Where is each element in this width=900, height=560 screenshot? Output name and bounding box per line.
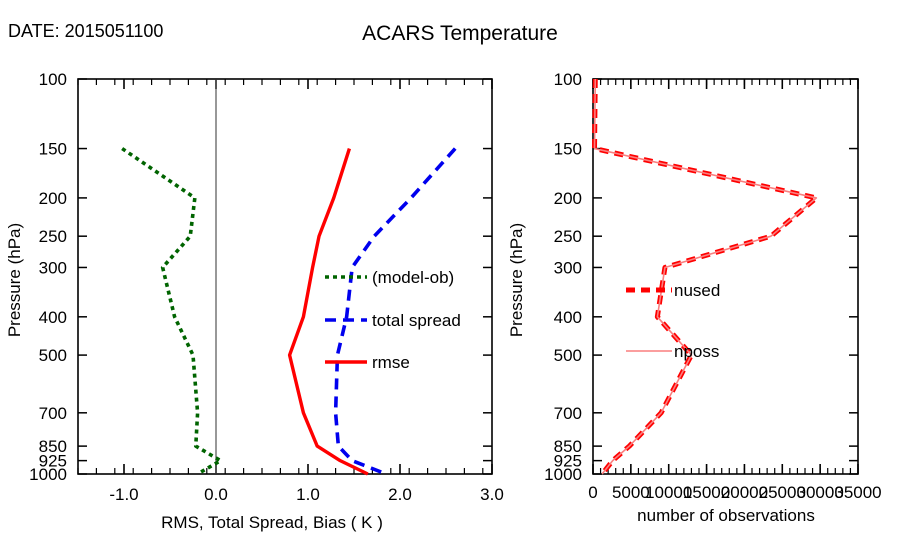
y-tick-label: 500 [39, 346, 67, 365]
y-tick-label: 100 [554, 70, 582, 89]
x-tick-label: -1.0 [109, 485, 138, 504]
y-tick-label: 250 [39, 227, 67, 246]
legend-label-total-spread: total spread [372, 311, 461, 330]
y-tick-label: 200 [554, 189, 582, 208]
y-tick-label: 700 [39, 404, 67, 423]
x-tick-label: 3.0 [480, 485, 504, 504]
x-tick-label: 1.0 [296, 485, 320, 504]
legend-label-rmse: rmse [372, 353, 410, 372]
y-tick-label: 400 [554, 308, 582, 327]
y-tick-label: 200 [39, 189, 67, 208]
legend-label-nposs: nposs [674, 342, 719, 361]
y-tick-label: 700 [554, 404, 582, 423]
x-tick-label: 0.0 [204, 485, 228, 504]
legend-label-nused: nused [674, 281, 720, 300]
right-y-axis-title: Pressure (hPa) [507, 223, 526, 337]
acars-temperature-figure: DATE: 2015051100 ACARS Temperature 10015… [0, 0, 900, 560]
y-tick-label: 1000 [544, 465, 582, 484]
x-tick-label: 2.0 [388, 485, 412, 504]
x-tick-label: 0 [588, 483, 597, 502]
right-x-axis-title: number of observations [637, 506, 815, 525]
legend-label-bias: (model-ob) [372, 268, 454, 287]
left-x-axis-title: RMS, Total Spread, Bias ( K ) [161, 513, 383, 532]
y-tick-label: 500 [554, 346, 582, 365]
y-tick-label: 150 [554, 140, 582, 159]
date-label: DATE: 2015051100 [8, 21, 163, 41]
y-tick-label: 1000 [29, 465, 67, 484]
y-tick-label: 150 [39, 140, 67, 159]
y-tick-label: 300 [554, 258, 582, 277]
y-tick-label: 300 [39, 258, 67, 277]
left-y-axis-title: Pressure (hPa) [5, 223, 24, 337]
y-tick-label: 250 [554, 227, 582, 246]
page-title: ACARS Temperature [362, 22, 558, 45]
x-tick-label: 35000 [834, 483, 881, 502]
y-tick-label: 400 [39, 308, 67, 327]
y-tick-label: 100 [39, 70, 67, 89]
